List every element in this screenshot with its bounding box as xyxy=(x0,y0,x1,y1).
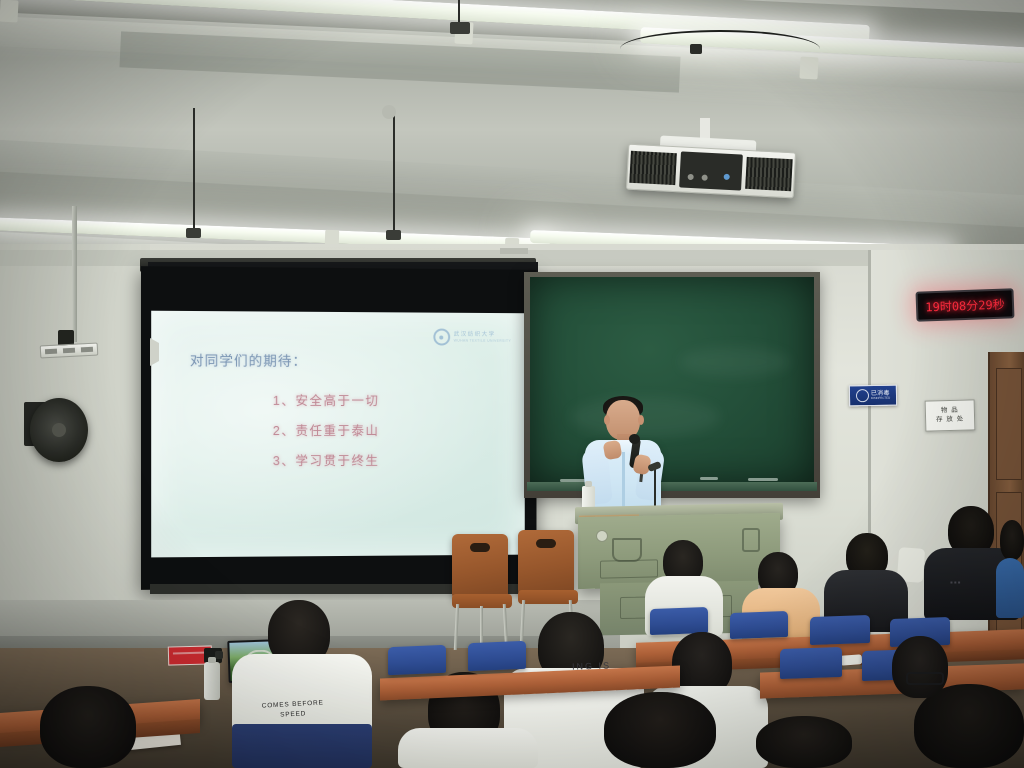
wall-conduit xyxy=(72,206,77,342)
lectern-lock-knob[interactable] xyxy=(596,530,608,542)
lectern-handle[interactable] xyxy=(742,528,760,552)
light-hanger-3 xyxy=(393,112,395,234)
blackboard xyxy=(530,277,814,485)
slide-item-2: 2、责任重于泰山 xyxy=(273,420,379,439)
chalk-tray xyxy=(527,482,817,491)
projector-vent-left xyxy=(629,151,677,185)
slide-title: 对同学们的期待： xyxy=(190,349,307,370)
led-clock-text: 19时08分29秒 xyxy=(925,295,1005,315)
light-box-1 xyxy=(450,22,470,34)
student-shirt-text-1: COMES BEFORE SPEED xyxy=(262,698,325,721)
student-head xyxy=(1000,520,1024,560)
slide-item-3: 3、学习贯于终生 xyxy=(273,450,379,469)
storage-line-2: 存 放 处 xyxy=(936,415,964,423)
chalk-piece-2[interactable] xyxy=(700,477,718,480)
cup-holder-icon xyxy=(612,538,642,562)
ceiling-fixture-bracket xyxy=(500,248,528,254)
speaker-ear-right xyxy=(638,415,644,425)
student-head xyxy=(604,692,716,768)
chalk-piece-3[interactable] xyxy=(748,478,778,481)
tissue-on-desk xyxy=(840,654,863,666)
student-head xyxy=(756,716,852,768)
thermos-flask[interactable] xyxy=(204,662,220,700)
student-body xyxy=(398,728,538,768)
light-box-3 xyxy=(386,230,401,240)
speaker-shirt-placket xyxy=(622,452,625,514)
cable-clip xyxy=(690,44,702,54)
chair-back-blue-6[interactable] xyxy=(468,641,526,672)
storage-sign: 物 品 存 放 处 xyxy=(925,399,976,431)
logo-title: 武汉纺织大学 xyxy=(454,331,496,337)
light-box-2 xyxy=(186,228,201,238)
slide-university-logo: 武汉纺织大学 WUHAN TEXTILE UNIVERSITY xyxy=(433,329,511,346)
projector-body xyxy=(679,151,743,190)
lectern-drawer[interactable] xyxy=(600,559,658,578)
ceiling xyxy=(0,0,1024,270)
logo-subtitle: WUHAN TEXTILE UNIVERSITY xyxy=(454,339,511,344)
disinfected-sublabel: DISINFECTED xyxy=(871,397,890,401)
chair-back xyxy=(518,530,574,596)
light-cap-1 xyxy=(0,0,19,22)
ceiling-cable xyxy=(620,30,820,68)
storage-line-1: 物 品 xyxy=(941,407,959,414)
chair-back-blue-3[interactable] xyxy=(810,615,870,645)
chair-back-blue-7[interactable] xyxy=(780,647,842,679)
fan-hub xyxy=(52,423,66,437)
ceiling-projector xyxy=(626,144,796,199)
chair-handhole xyxy=(470,543,490,552)
shirt-line-2: SPEED xyxy=(280,710,306,718)
chair-leg-3 xyxy=(480,606,483,646)
chair-handhole xyxy=(536,539,556,548)
speaker-ear-left xyxy=(604,415,610,425)
seal-icon xyxy=(856,389,869,402)
logo-text: 武汉纺织大学 WUHAN TEXTILE UNIVERSITY xyxy=(454,330,511,344)
chalk-piece-1[interactable] xyxy=(560,479,586,482)
student-body xyxy=(996,558,1024,618)
disinfected-sign: 已消毒 DISINFECTED xyxy=(849,385,897,407)
student-head xyxy=(40,686,136,768)
projector-vent-right xyxy=(745,157,793,191)
student-shirt-print: ▪▪▪ xyxy=(950,578,962,587)
disinfected-sign-text: 已消毒 DISINFECTED xyxy=(871,390,890,400)
student-head xyxy=(892,636,948,698)
led-clock-display: 19时08分29秒 xyxy=(916,288,1015,321)
light-hanger-2 xyxy=(193,108,195,230)
student-collar-band xyxy=(232,724,372,768)
chair-back-blue-1[interactable] xyxy=(650,607,708,635)
logo-mark-icon xyxy=(433,329,450,346)
ceiling-rose xyxy=(382,105,396,119)
projection-screen: 武汉纺织大学 WUHAN TEXTILE UNIVERSITY 对同学们的期待：… xyxy=(151,311,525,558)
light-cap-3 xyxy=(799,57,818,80)
slide-item-1: 1、安全高于一切 xyxy=(273,390,379,409)
door-panel-upper xyxy=(996,368,1022,480)
chair-back-blue-2[interactable] xyxy=(730,611,788,639)
lecture-hall-photo: 武汉纺织大学 WUHAN TEXTILE UNIVERSITY 对同学们的期待：… xyxy=(0,0,1024,768)
eyeglasses-icon xyxy=(906,672,944,685)
chair-back-blue-5[interactable] xyxy=(388,645,446,676)
chair-back xyxy=(452,534,508,600)
shirt-line-1: COMES BEFORE xyxy=(262,699,324,709)
chalk-smudge-2 xyxy=(680,347,790,377)
chalk-smudge-1 xyxy=(570,397,720,437)
